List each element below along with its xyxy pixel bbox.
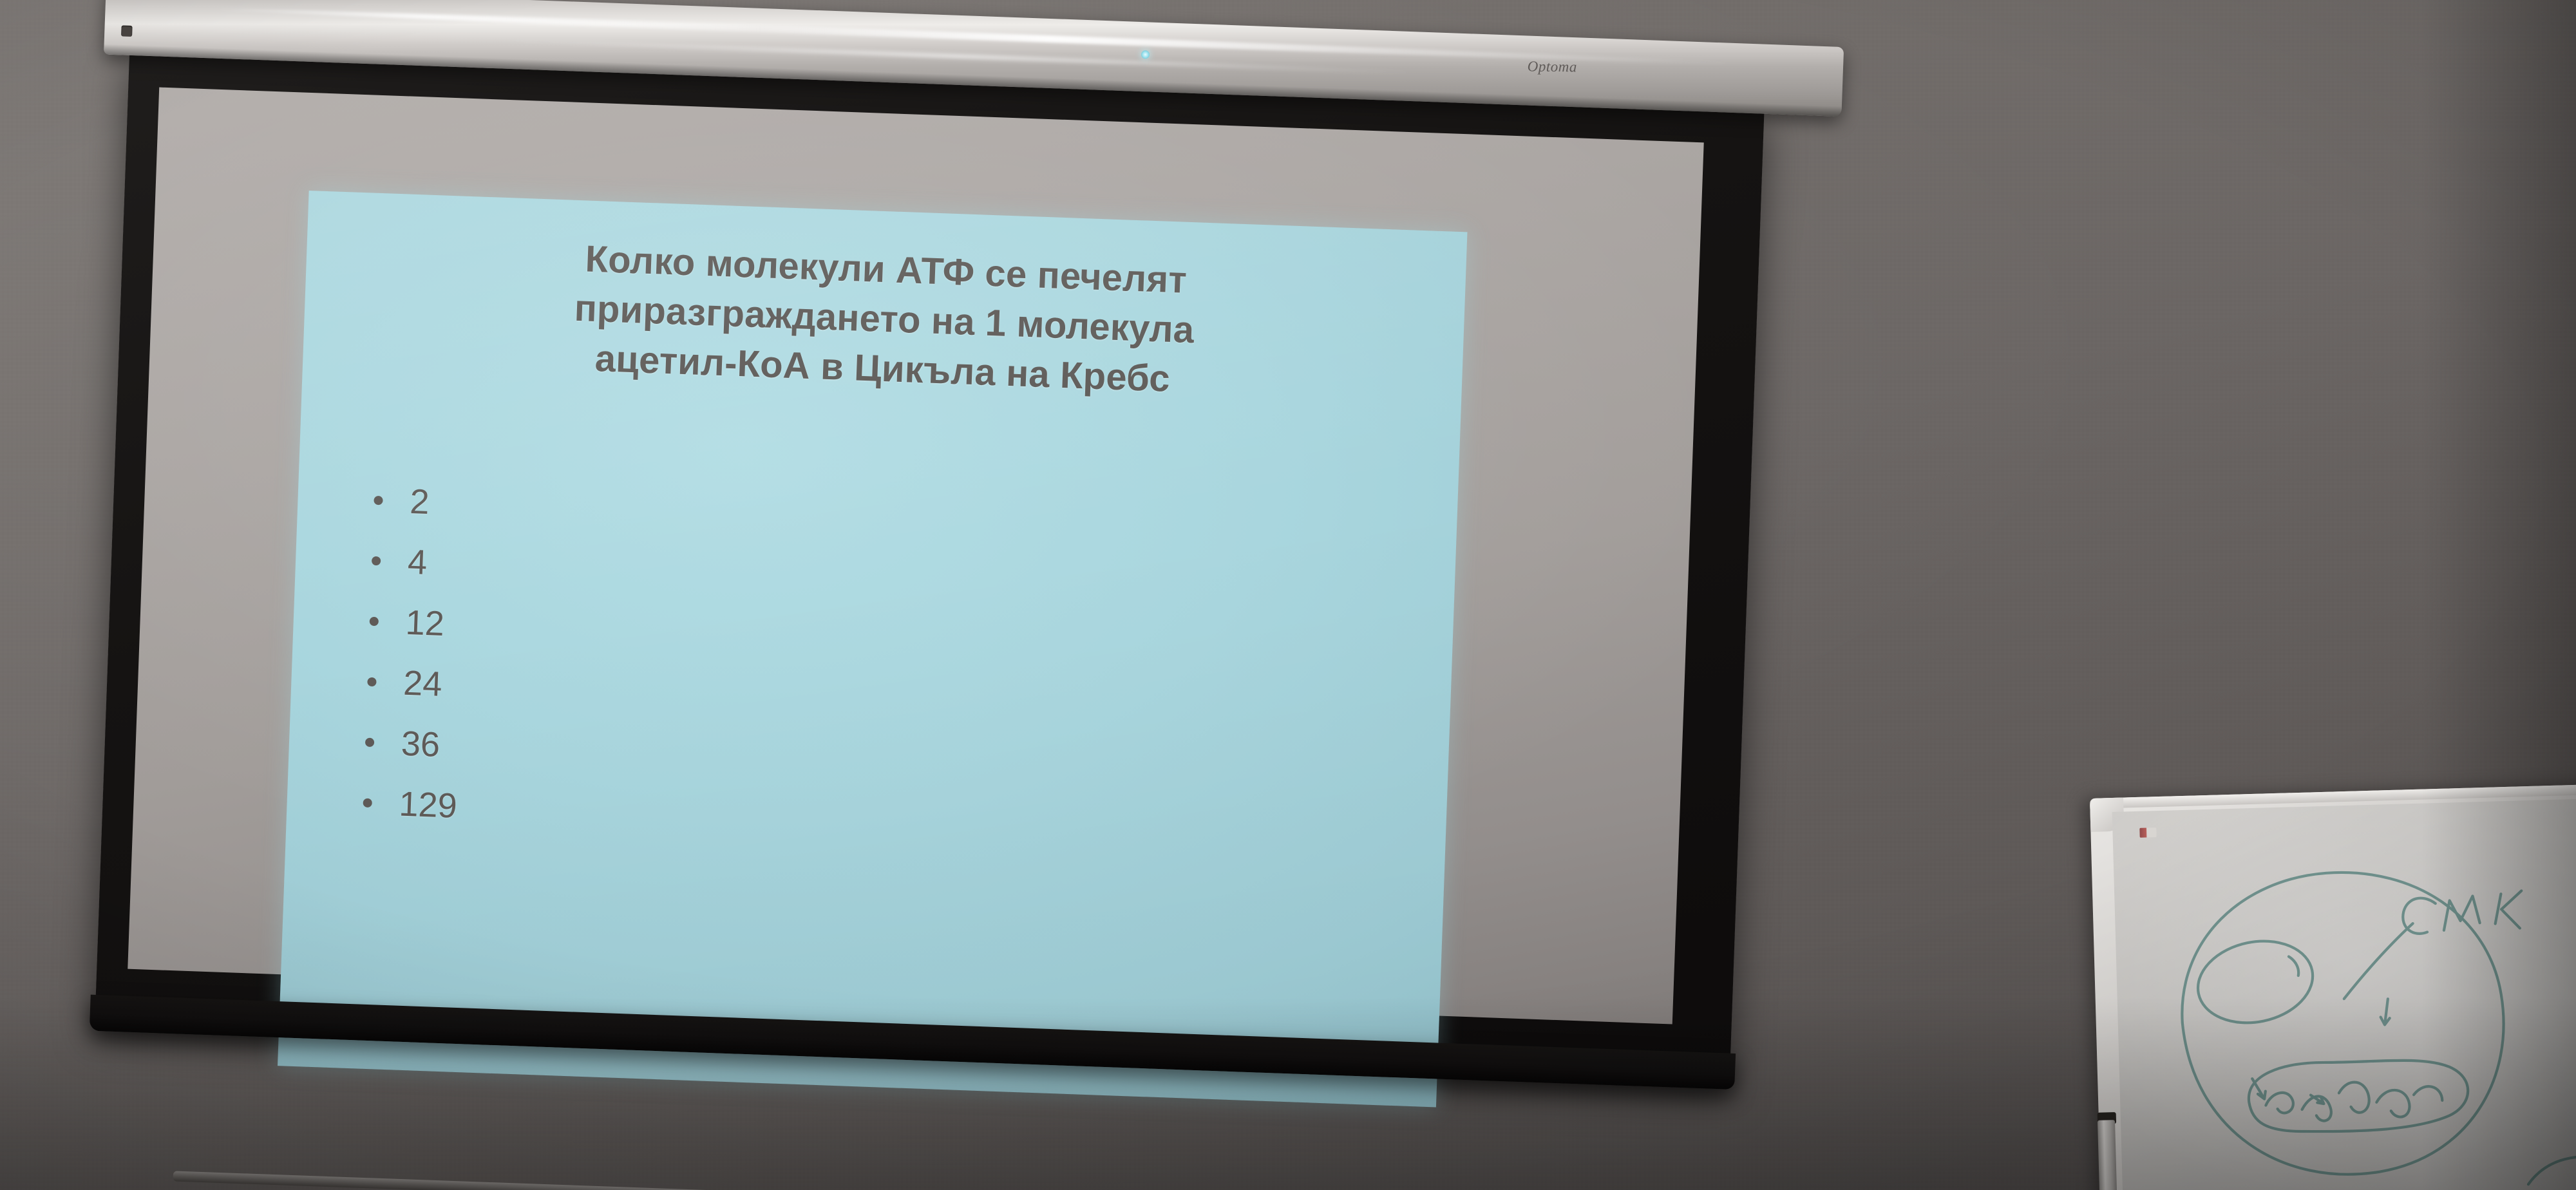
classroom-photo-scene: Колко молекули АТФ се печелят приразграж… bbox=[0, 0, 2576, 1190]
whiteboard-surface bbox=[2112, 797, 2576, 1190]
bullet-label: 129 bbox=[399, 784, 458, 826]
slide-title: Колко молекули АТФ се печелят приразграж… bbox=[303, 224, 1466, 415]
bullet-label: 4 bbox=[407, 542, 428, 583]
whiteboard-marker-icon bbox=[2098, 1120, 2118, 1190]
bullet-dot-icon bbox=[370, 617, 379, 626]
bullet-dot-icon bbox=[365, 738, 374, 747]
power-led-icon bbox=[1141, 50, 1150, 59]
whiteboard-drawing-ink bbox=[2112, 797, 2576, 1190]
bullet-dot-icon bbox=[363, 798, 372, 807]
projector-screen-assembly: Колко молекули АТФ се печелят приразграж… bbox=[154, 0, 2128, 1190]
brand-logo: Optoma bbox=[1528, 58, 1578, 75]
housing-lower-rod bbox=[173, 1171, 1872, 1190]
housing-endcap-icon bbox=[121, 25, 133, 37]
bullet-label: 36 bbox=[401, 724, 440, 765]
whiteboard bbox=[2090, 783, 2576, 1190]
bullet-dot-icon bbox=[367, 677, 376, 686]
bullet-label: 24 bbox=[402, 663, 442, 704]
bullet-label: 2 bbox=[409, 482, 430, 522]
bullet-dot-icon bbox=[372, 556, 381, 565]
bullet-dot-icon bbox=[374, 496, 383, 505]
screen-projection-surface: Колко молекули АТФ се печелят приразграж… bbox=[128, 88, 1703, 1025]
projected-slide: Колко молекули АТФ се печелят приразграж… bbox=[278, 191, 1467, 1108]
bullet-label: 12 bbox=[405, 603, 445, 644]
screen-black-border: Колко молекули АТФ се печелят приразграж… bbox=[95, 50, 1764, 1081]
slide-bullet-list: 2 4 12 24 bbox=[362, 470, 954, 854]
